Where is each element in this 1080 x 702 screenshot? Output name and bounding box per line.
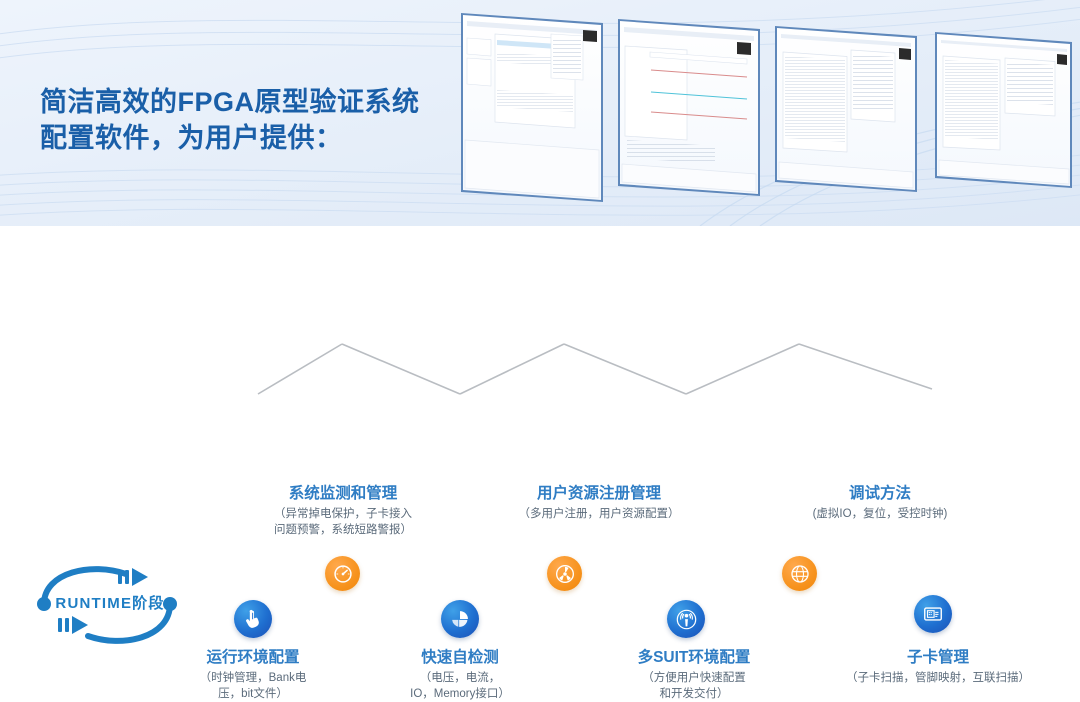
chip-card-icon xyxy=(922,603,944,625)
software-screenshot-4 xyxy=(935,32,1072,188)
node-icon-系统监测和管理[interactable] xyxy=(325,556,360,591)
node-title: 用户资源注册管理 xyxy=(478,484,720,504)
node-label-运行环境配置: 运行环境配置 （时钟管理，Bank电 压，bit文件） xyxy=(158,648,348,702)
puzzle-shapes-icon xyxy=(450,609,470,629)
node-subtitle: （异常掉电保护，子卡接入 问题预警，系统短路警报） xyxy=(228,506,458,538)
node-label-多SUIT环境配置: 多SUIT环境配置 （方便用户快速配置 和开发交付） xyxy=(596,648,792,702)
runtime-badge: RUNTIME阶段 xyxy=(22,556,192,652)
node-label-系统监测和管理: 系统监测和管理 （异常掉电保护，子卡接入 问题预警，系统短路警报） xyxy=(228,484,458,538)
node-title: 子卡管理 xyxy=(818,648,1058,668)
node-subtitle: （子卡扫描，管脚映射，互联扫描） xyxy=(818,670,1058,686)
node-title: 调试方法 xyxy=(759,484,1001,504)
software-screenshot-1 xyxy=(461,13,603,202)
node-subtitle: （时钟管理，Bank电 压，bit文件） xyxy=(158,670,348,702)
screenshot-deck xyxy=(455,0,1080,215)
screenshot-deck-svg xyxy=(455,0,1080,215)
node-title: 快速自检测 xyxy=(370,648,550,668)
node-subtitle: (虚拟IO，复位，受控时钟) xyxy=(759,506,1001,522)
node-label-子卡管理: 子卡管理 （子卡扫描，管脚映射，互联扫描） xyxy=(818,648,1058,686)
node-icon-用户资源注册管理[interactable] xyxy=(547,556,582,591)
node-label-用户资源注册管理: 用户资源注册管理 （多用户注册，用户资源配置） xyxy=(478,484,720,522)
node-icon-调试方法[interactable] xyxy=(782,556,817,591)
hand-pointer-icon xyxy=(243,609,264,630)
node-subtitle: （方便用户快速配置 和开发交付） xyxy=(596,670,792,702)
node-icon-子卡管理[interactable] xyxy=(914,595,952,633)
node-title: 运行环境配置 xyxy=(158,648,348,668)
node-label-调试方法: 调试方法 (虚拟IO，复位，受控时钟) xyxy=(759,484,1001,522)
debug-globe-icon xyxy=(790,564,810,584)
software-screenshot-3 xyxy=(775,26,917,192)
broadcast-signal-icon xyxy=(676,609,697,630)
radiation-resource-icon xyxy=(555,564,575,584)
runtime-badge-label: RUNTIME阶段 xyxy=(45,592,175,613)
zigzag-connector-lines xyxy=(0,226,1080,491)
node-title: 多SUIT环境配置 xyxy=(596,648,792,668)
software-screenshot-2 xyxy=(618,19,760,196)
node-title: 系统监测和管理 xyxy=(228,484,458,504)
node-subtitle: （多用户注册，用户资源配置） xyxy=(478,506,720,522)
node-icon-多SUIT环境配置[interactable] xyxy=(667,600,705,638)
node-icon-快速自检测[interactable] xyxy=(441,600,479,638)
node-label-快速自检测: 快速自检测 （电压，电流， IO，Memory接口） xyxy=(370,648,550,702)
node-icon-运行环境配置[interactable] xyxy=(234,600,272,638)
process-diagram: RUNTIME阶段 运行环境配置 （时钟管理，Bank电 压，bit文件） xyxy=(0,226,1080,491)
node-subtitle: （电压，电流， IO，Memory接口） xyxy=(370,670,550,702)
hero-section: 简洁高效的FPGA原型验证系统 配置软件，为用户提供： xyxy=(0,0,1080,226)
page-title: 简洁高效的FPGA原型验证系统 配置软件，为用户提供： xyxy=(40,84,420,156)
gauge-meter-icon xyxy=(333,564,353,584)
poster-root: 简洁高效的FPGA原型验证系统 配置软件，为用户提供： xyxy=(0,0,1080,491)
